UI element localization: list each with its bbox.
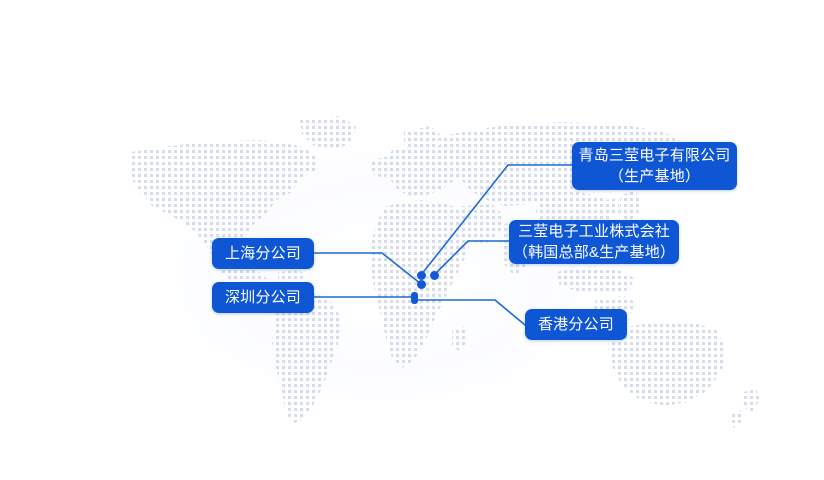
label-shanghai-line1: 上海分公司 <box>225 243 301 264</box>
korea-connector <box>434 241 509 275</box>
label-qingdao[interactable]: 青岛三莹电子有限公司 （生产基地） <box>572 142 737 190</box>
label-hongkong-line1: 香港分公司 <box>538 314 614 335</box>
label-shenzhen[interactable]: 深圳分公司 <box>212 282 314 313</box>
qingdao-marker[interactable] <box>417 271 426 280</box>
locations-map-canvas: 青岛三莹电子有限公司 （生产基地） 三莹电子工业株式会社 （韩国总部&生产基地）… <box>0 0 824 480</box>
shanghai-marker[interactable] <box>417 280 426 289</box>
hongkong-connector <box>416 300 525 325</box>
connector-lines-layer <box>0 0 824 480</box>
label-hongkong[interactable]: 香港分公司 <box>525 309 627 340</box>
label-shenzhen-line1: 深圳分公司 <box>225 287 301 308</box>
korea-marker[interactable] <box>430 271 439 280</box>
label-korea[interactable]: 三莹电子工业株式会社 （韩国总部&生产基地） <box>509 220 679 264</box>
shanghai-connector <box>314 253 421 284</box>
label-qingdao-line2: （生产基地） <box>609 166 700 187</box>
label-korea-line1: 三莹电子工业株式会社 <box>518 221 670 242</box>
label-shanghai[interactable]: 上海分公司 <box>212 238 314 269</box>
label-korea-line2: （韩国总部&生产基地） <box>513 242 675 263</box>
label-qingdao-line1: 青岛三莹电子有限公司 <box>579 145 731 166</box>
shenzhen-marker[interactable] <box>411 292 418 304</box>
